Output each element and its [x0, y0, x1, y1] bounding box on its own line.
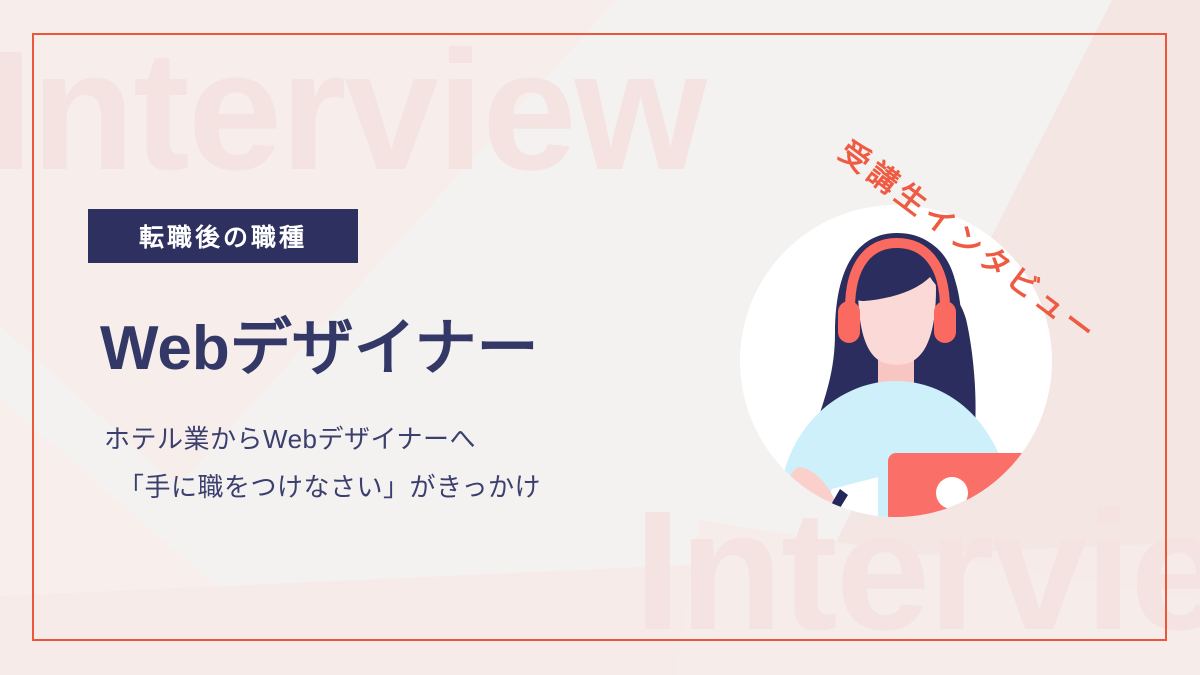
chair-back	[802, 561, 992, 575]
laptop-screen	[888, 453, 1052, 531]
subtitle-block: ホテル業からWebデザイナーへ 「手に職をつけなさい」がきっかけ	[104, 415, 541, 511]
subtitle-line-1: ホテル業からWebデザイナーへ	[104, 424, 476, 454]
page-title: Webデザイナー	[100, 297, 539, 387]
job-category-badge: 転職後の職種	[88, 209, 358, 263]
watermark-text-top: Interview	[0, 26, 705, 196]
headphone-earcup-left	[838, 301, 860, 343]
tablet	[788, 517, 888, 529]
headphone-earcup-right	[934, 301, 956, 343]
laptop-logo	[936, 477, 968, 509]
desk-surface	[740, 527, 1052, 538]
interview-banner: Interview Interview	[0, 0, 1200, 675]
subtitle-line-2: 「手に職をつけなさい」がきっかけ	[118, 463, 541, 511]
job-category-badge-label: 転職後の職種	[139, 218, 307, 254]
